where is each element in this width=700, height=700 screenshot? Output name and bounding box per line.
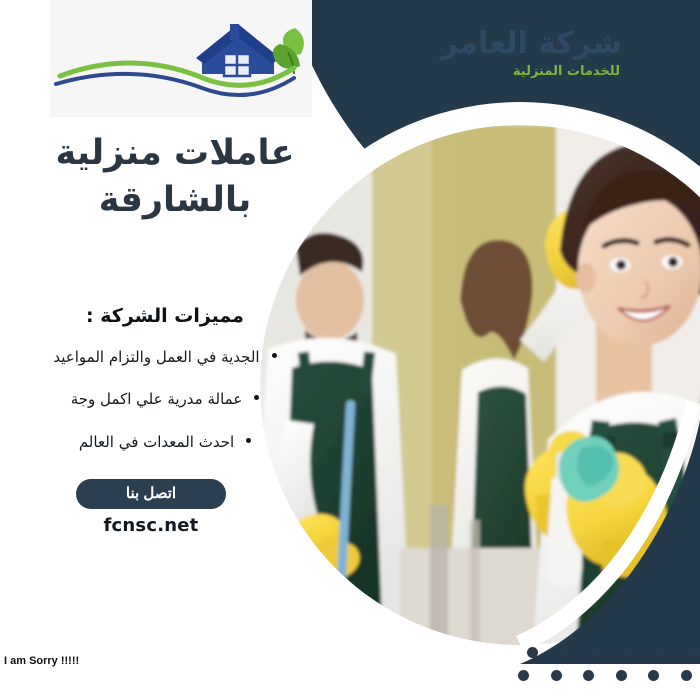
logo-company-name: شركة العامر xyxy=(441,26,622,61)
bottom-navy-accent xyxy=(520,408,700,676)
features-list: الجدية في العمل والتزام المواعيد عمالة م… xyxy=(0,347,330,452)
feature-text: احدث المعدات في العالم xyxy=(79,433,234,451)
glove-right xyxy=(566,453,667,578)
website-link[interactable]: fcnsc.net xyxy=(0,515,302,536)
headline-line-1: عاملات منزلية xyxy=(55,133,294,173)
dot-grid-decoration xyxy=(500,647,700,697)
feature-text: عمالة مدرية علي اكمل وجة xyxy=(71,390,243,408)
leaf-icon xyxy=(273,28,304,74)
house-icon xyxy=(196,24,280,76)
bullet-icon xyxy=(272,353,277,358)
spray-bottle xyxy=(546,452,582,586)
dot xyxy=(583,670,594,681)
glove-left xyxy=(525,431,614,542)
dot xyxy=(592,647,603,658)
dot xyxy=(527,647,538,658)
sponge xyxy=(559,436,619,502)
dot-row xyxy=(500,647,700,658)
bullet-icon xyxy=(254,395,259,400)
logo-tagline: للخدمات المنزلية xyxy=(513,64,620,79)
white-separator-ring xyxy=(516,400,700,652)
contact-us-button[interactable]: اتصل بنا xyxy=(76,479,226,509)
dot xyxy=(648,670,659,681)
bullet-icon xyxy=(246,438,251,443)
dot xyxy=(559,647,570,658)
foreground-woman xyxy=(525,142,700,658)
poster-canvas: شركة العامر للخدمات المنزلية عاملات منزل… xyxy=(0,0,700,700)
dot xyxy=(518,670,529,681)
background-woman xyxy=(448,173,620,624)
feature-text: الجدية في العمل والتزام المواعيد xyxy=(53,348,259,366)
list-item: احدث المعدات في العالم xyxy=(0,432,330,452)
dot xyxy=(657,647,668,658)
dot xyxy=(551,670,562,681)
company-logo xyxy=(52,14,310,106)
list-item: الجدية في العمل والتزام المواعيد xyxy=(0,347,330,367)
headline-line-2: بالشارقة xyxy=(0,177,350,224)
page-title: عاملات منزلية بالشارقة xyxy=(0,130,350,223)
list-item: عمالة مدرية علي اكمل وجة xyxy=(0,389,330,409)
watermark-text: I am Sorry !!!!! xyxy=(4,655,79,667)
dot xyxy=(681,670,692,681)
features-title: مميزات الشركة : xyxy=(0,305,330,327)
features-section: مميزات الشركة : الجدية في العمل والتزام … xyxy=(0,305,330,474)
dot xyxy=(624,647,635,658)
dot-row xyxy=(500,670,700,681)
dot xyxy=(689,647,700,658)
dot xyxy=(616,670,627,681)
